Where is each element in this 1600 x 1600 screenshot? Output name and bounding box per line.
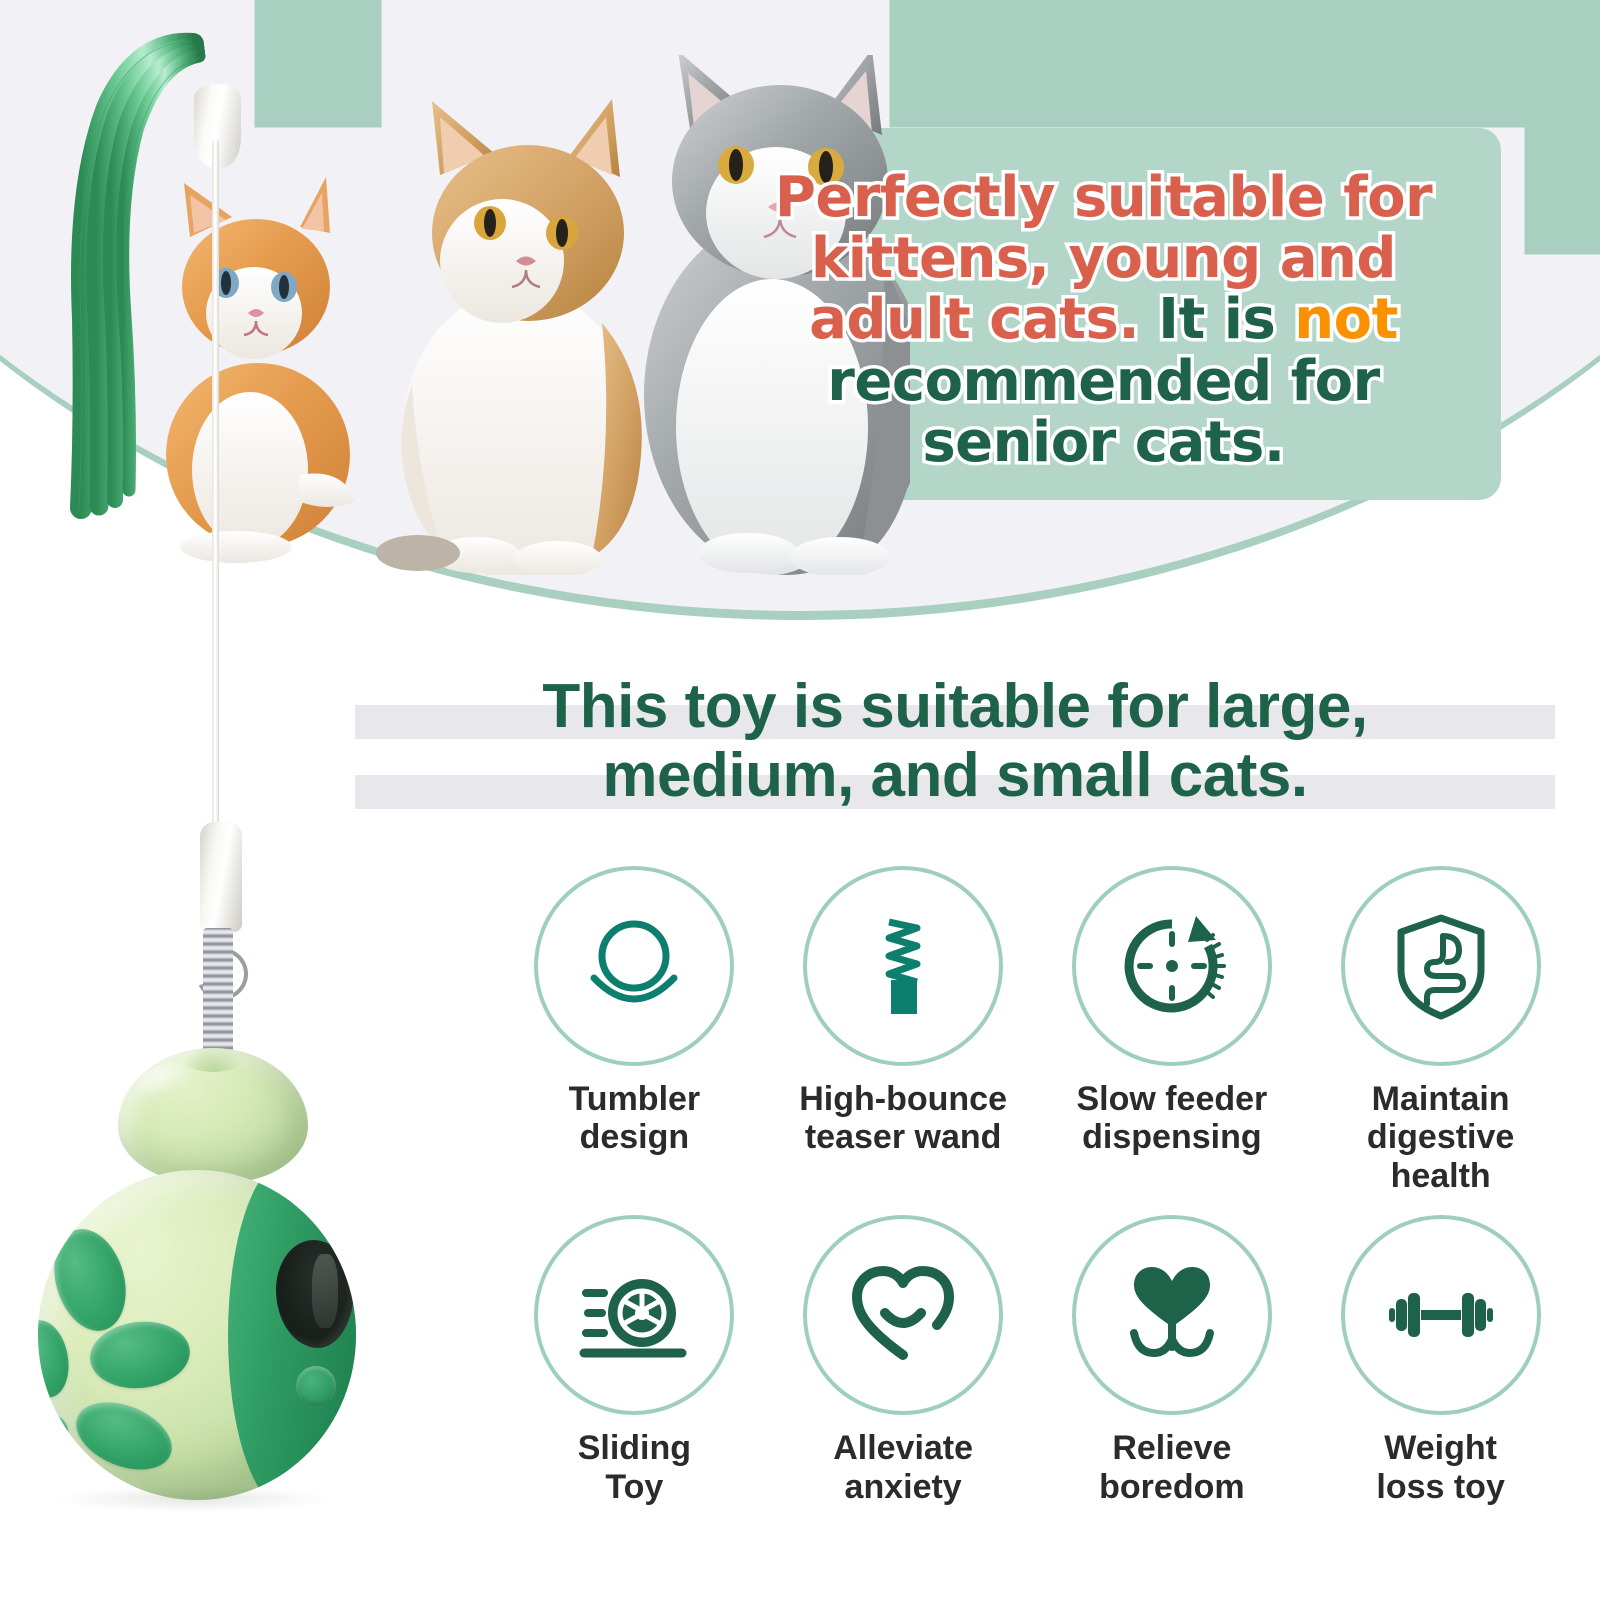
feature-label-line-1: Slow feeder	[1076, 1080, 1267, 1118]
dispensing-opening-inner	[312, 1254, 338, 1328]
main-heading-line-2-text: medium, and small cats.	[602, 741, 1307, 810]
feature-icon-circle	[1341, 1215, 1541, 1415]
feature-label: Weight loss toy	[1321, 1429, 1561, 1506]
feature-label-line-1: Tumbler	[569, 1080, 701, 1118]
heart-smile-icon	[843, 1255, 963, 1375]
feature-label: Tumbler design	[514, 1080, 754, 1157]
feature-item-sliding-toy: Sliding Toy	[500, 1215, 769, 1506]
rolling-wheel-icon	[574, 1255, 694, 1375]
feature-item-alleviate-anxiety: Alleviate anxiety	[769, 1215, 1038, 1506]
feature-icon-circle	[534, 866, 734, 1066]
feature-icon-circle	[803, 866, 1003, 1066]
feature-item-slow-feeder-dispensing: Slow feeder dispensing	[1038, 866, 1307, 1195]
feature-item-weight-loss-toy: Weight loss toy	[1306, 1215, 1575, 1506]
headline-line-3-green: It is	[1158, 287, 1275, 352]
feature-label-line-2: Toy	[605, 1468, 663, 1506]
feature-grid: Tumbler design High-bounce teaser wand	[500, 866, 1575, 1506]
feature-label-line-3: health	[1391, 1157, 1491, 1195]
feature-icon-circle	[1072, 866, 1272, 1066]
feature-label-line-2: dispensing	[1082, 1118, 1261, 1156]
ball-button-detail	[296, 1366, 336, 1406]
feature-item-tumbler-design: Tumbler design	[500, 866, 769, 1195]
cat-nose-heart-icon	[1112, 1255, 1232, 1375]
timer-clock-icon	[1112, 906, 1232, 1026]
product-shadow	[58, 1486, 328, 1512]
dumbbell-icon	[1381, 1255, 1501, 1375]
feature-label-line-2: design	[580, 1118, 690, 1156]
feature-label: Relieve boredom	[1052, 1429, 1292, 1506]
shield-intestine-icon	[1381, 906, 1501, 1026]
wand-rod	[212, 140, 219, 840]
wand-bottom-cap	[200, 822, 242, 932]
feature-label: Alleviate anxiety	[783, 1429, 1023, 1506]
feature-label-line-2: digestive	[1367, 1118, 1514, 1156]
headline-line-2: kittens, young and	[706, 228, 1501, 289]
feature-label: Slow feeder dispensing	[1052, 1080, 1292, 1157]
feature-item-relieve-boredom: Relieve boredom	[1038, 1215, 1307, 1506]
product-ball-head	[118, 1048, 308, 1183]
headline-line-3-red: adult cats.	[809, 287, 1139, 352]
headline-text-block: Perfectly suitable for kittens, young an…	[706, 150, 1501, 490]
feature-icon-circle	[1341, 866, 1541, 1066]
headline-line-1: Perfectly suitable for	[706, 167, 1501, 228]
ball-spot	[66, 1389, 181, 1482]
feature-icon-circle	[534, 1215, 734, 1415]
feature-label-line-1: High-bounce	[799, 1080, 1007, 1118]
feature-label-line-1: Maintain	[1372, 1080, 1510, 1118]
main-heading: This toy is suitable for large, medium, …	[330, 672, 1580, 811]
headline-line-3: adult cats. It is not	[706, 289, 1501, 350]
main-heading-line-1: This toy is suitable for large,	[330, 672, 1580, 741]
headline-line-5: senior cats.	[706, 412, 1501, 473]
ball-spot	[38, 1409, 76, 1472]
feature-label-line-2: loss toy	[1376, 1468, 1504, 1506]
feature-item-high-bounce-teaser-wand: High-bounce teaser wand	[769, 866, 1038, 1195]
headline-line-3-orange: not	[1294, 287, 1398, 352]
product-ball-body	[38, 1170, 356, 1500]
ball-spot	[43, 1221, 137, 1340]
headline-line-4: recommended for	[706, 351, 1501, 412]
feature-label-line-2: teaser wand	[805, 1118, 1002, 1156]
ball-spot	[38, 1316, 74, 1401]
tumbler-icon	[574, 906, 694, 1026]
main-heading-line-1-text: This toy is suitable for large,	[542, 672, 1367, 741]
feature-icon-circle	[803, 1215, 1003, 1415]
feature-label: Maintain digestive health	[1321, 1080, 1561, 1195]
spring-connector	[203, 928, 233, 1058]
product-cat-tumbler-teaser-toy	[0, 0, 420, 1600]
feature-label-line-1: Sliding	[578, 1429, 691, 1467]
feature-label-line-2: boredom	[1099, 1468, 1244, 1506]
feature-label-line-1: Weight	[1384, 1429, 1497, 1467]
feature-label-line-1: Alleviate	[833, 1429, 973, 1467]
main-heading-line-2: medium, and small cats.	[330, 741, 1580, 810]
feature-label: Sliding Toy	[514, 1429, 754, 1506]
feature-icon-circle	[1072, 1215, 1272, 1415]
feature-item-maintain-digestive-health: Maintain digestive health	[1306, 866, 1575, 1195]
spring-coil-icon	[843, 906, 963, 1026]
feature-label: High-bounce teaser wand	[783, 1080, 1023, 1157]
feature-label-line-1: Relieve	[1112, 1429, 1231, 1467]
feature-label-line-2: anxiety	[845, 1468, 962, 1506]
